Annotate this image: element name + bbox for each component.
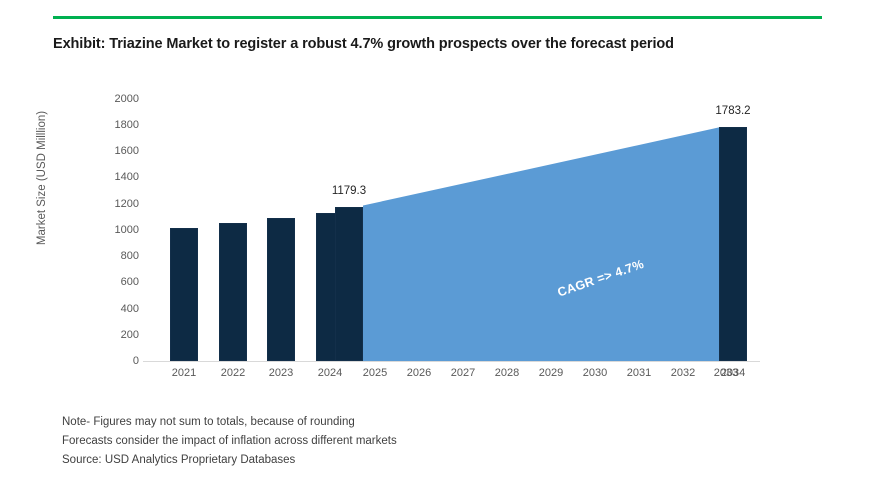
y-axis-tick: 1800 — [95, 120, 139, 131]
y-axis-title: Market Size (USD Milllion) — [36, 78, 48, 278]
bar-2021 — [170, 228, 198, 361]
data-label-2034: 1783.2 — [688, 105, 778, 117]
x-axis-tick-2023: 2023 — [255, 368, 307, 379]
footnote-forecast: Forecasts consider the impact of inflati… — [62, 432, 397, 451]
bar-2023 — [267, 218, 295, 361]
x-axis-tick-2034: 2034 — [707, 368, 759, 379]
y-axis-tick: 2000 — [95, 94, 139, 105]
bar-2034 — [719, 127, 747, 361]
y-axis-tick: 400 — [95, 304, 139, 315]
bar-2025 — [335, 207, 363, 362]
cagr-annotation: CAGR => 4.7% — [556, 257, 646, 300]
y-axis-tick: 1600 — [95, 146, 139, 157]
bar-2022 — [219, 223, 247, 361]
x-axis-line — [143, 361, 760, 362]
y-axis-tick: 1200 — [95, 199, 139, 210]
x-axis-tick-2021: 2021 — [158, 368, 210, 379]
y-axis-tick: 1400 — [95, 172, 139, 183]
x-axis-tick-2022: 2022 — [207, 368, 259, 379]
y-axis-tick: 1000 — [95, 225, 139, 236]
footnote-note: Note- Figures may not sum to totals, bec… — [62, 413, 397, 432]
footnotes: Note- Figures may not sum to totals, bec… — [62, 413, 397, 470]
footnote-source: Source: USD Analytics Proprietary Databa… — [62, 451, 397, 470]
chart-page: Exhibit: Triazine Market to register a r… — [0, 0, 885, 500]
y-axis-tick: 600 — [95, 277, 139, 288]
y-axis-tick: 800 — [95, 251, 139, 262]
y-axis-tick: 0 — [95, 356, 139, 367]
y-axis-tick: 200 — [95, 330, 139, 341]
data-label-2025: 1179.3 — [304, 185, 394, 197]
